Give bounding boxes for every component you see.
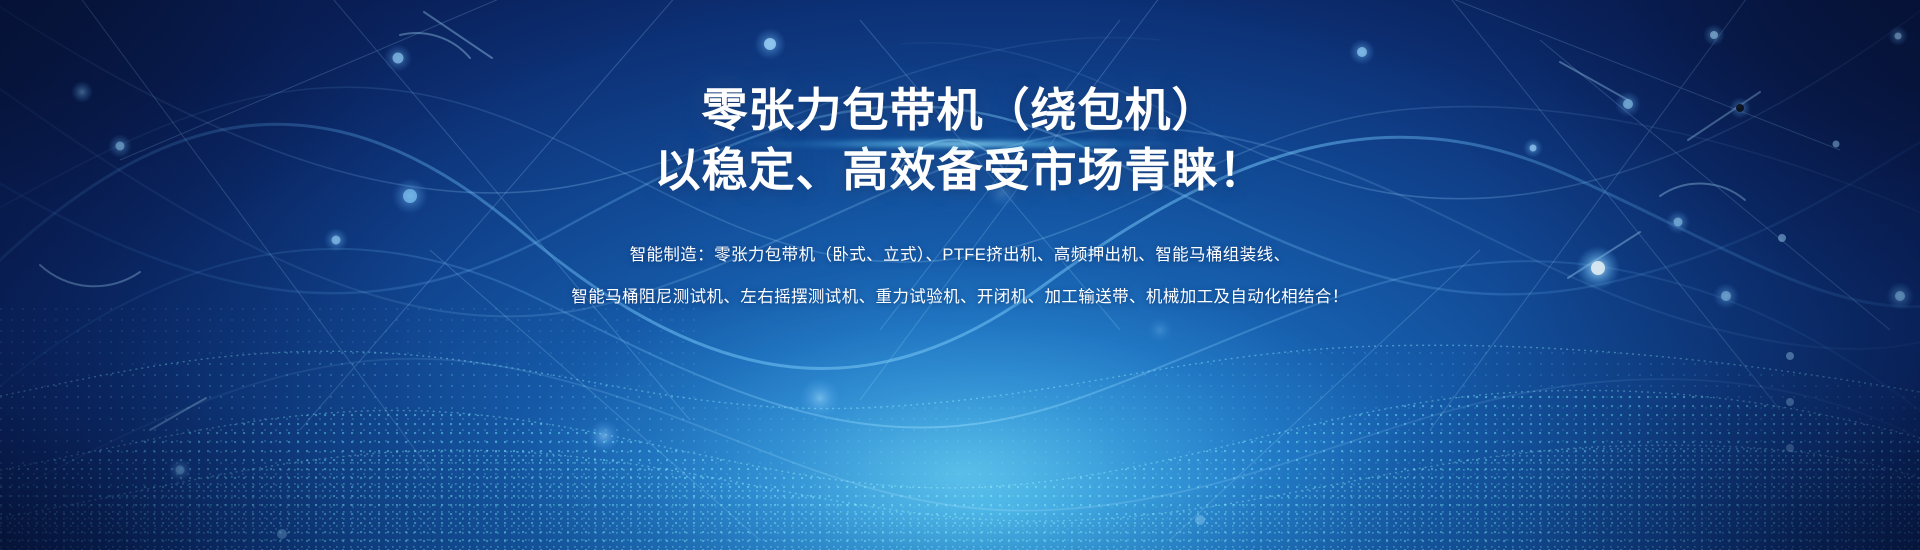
subtitle-line-2: 智能马桶阻尼测试机、左右摇摆测试机、重力试验机、开闭机、加工输送带、机械加工及自…	[0, 277, 1920, 318]
headline-glow-streak	[725, 138, 1195, 150]
hero-banner: 零张力包带机（绕包机） 以稳定、高效备受市场青睐！ 智能制造：零张力包带机（卧式…	[0, 0, 1920, 550]
headline-line-1: 零张力包带机（绕包机）	[0, 86, 1920, 136]
banner-content: 零张力包带机（绕包机） 以稳定、高效备受市场青睐！ 智能制造：零张力包带机（卧式…	[0, 86, 1920, 318]
subtitle-block: 智能制造：零张力包带机（卧式、立式）、PTFE挤出机、高频押出机、智能马桶组装线…	[0, 235, 1920, 318]
subtitle-line-1: 智能制造：零张力包带机（卧式、立式）、PTFE挤出机、高频押出机、智能马桶组装线…	[0, 235, 1920, 276]
headline-line-2: 以稳定、高效备受市场青睐！	[0, 146, 1920, 196]
